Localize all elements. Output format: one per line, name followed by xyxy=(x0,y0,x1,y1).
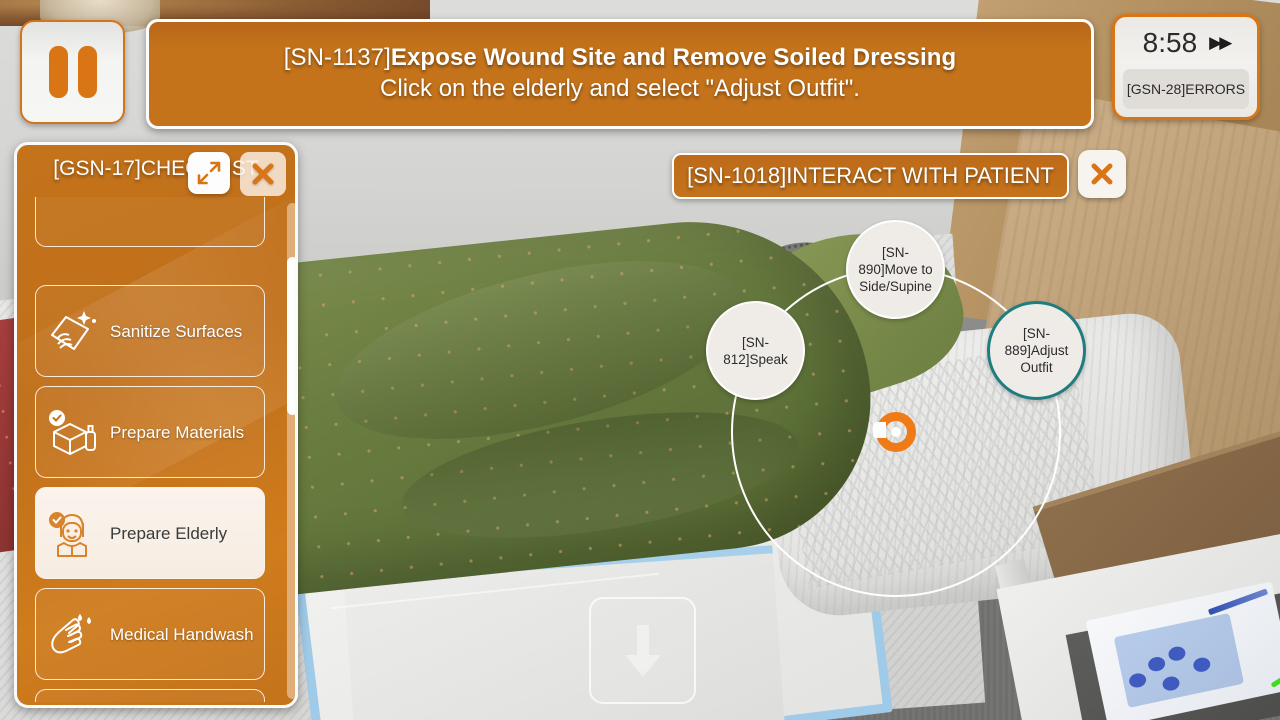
checklist-item-label: Prepare Materials xyxy=(110,420,244,445)
task-banner: [SN-1137]Expose Wound Site and Remove So… xyxy=(146,19,1094,129)
sanitize-surfaces-icon xyxy=(44,305,100,357)
close-icon xyxy=(249,160,277,188)
down-arrow-icon xyxy=(615,619,671,683)
task-code: [SN-1137] xyxy=(284,44,391,71)
radial-option-adjust-outfit[interactable]: [SN-889]Adjust Outfit xyxy=(987,301,1086,400)
pause-bar-left xyxy=(49,46,68,98)
prepare-elderly-icon xyxy=(44,507,100,559)
checklist-item-label: Prepare Elderly xyxy=(110,521,227,546)
timer-value: 8:58 xyxy=(1143,27,1198,59)
radial-cursor-dot xyxy=(891,427,901,437)
radial-option-move-to-side-supine[interactable]: [SN-890]Move to Side/Supine xyxy=(846,220,945,319)
fast-forward-icon[interactable]: ▶▶ xyxy=(1209,33,1229,53)
timer-row: 8:58 ▶▶ xyxy=(1143,23,1230,63)
hud-overlay: [SN-1137]Expose Wound Site and Remove So… xyxy=(0,0,1280,720)
interaction-menu-header: [SN-1018]INTERACT WITH PATIENT xyxy=(672,153,1069,199)
radial-option-speak[interactable]: [SN-812]Speak xyxy=(706,301,805,400)
sidebar-item-medical-handwash[interactable]: Medical Handwash xyxy=(35,588,265,680)
pause-bar-right xyxy=(78,46,97,98)
radial-option-label: [SN-889]Adjust Outfit xyxy=(996,325,1077,376)
interaction-menu-close-button[interactable] xyxy=(1078,150,1126,198)
list-item[interactable] xyxy=(35,197,265,247)
radial-interaction-menu: [SN-812]Speak [SN-890]Move to Side/Supin… xyxy=(731,267,1061,597)
drop-target-slot[interactable] xyxy=(589,597,696,704)
checklist-panel: [GSN-17]CHECKLIST xyxy=(14,142,298,708)
prepare-materials-icon xyxy=(44,406,100,458)
task-title-line: [SN-1137]Expose Wound Site and Remove So… xyxy=(284,43,957,73)
checklist-item-label: Sanitize Surfaces xyxy=(110,319,242,344)
sidebar-item-sterile-field[interactable]: Sterile Field xyxy=(35,689,265,702)
checklist-item-label: Medical Handwash xyxy=(110,622,254,647)
task-title: Expose Wound Site and Remove Soiled Dres… xyxy=(391,44,956,71)
pause-button[interactable] xyxy=(20,20,125,124)
sidebar-item-prepare-elderly[interactable]: Prepare Elderly xyxy=(35,487,265,579)
sidebar-item-sanitize-surfaces[interactable]: Sanitize Surfaces xyxy=(35,285,265,377)
task-instruction: Click on the elderly and select "Adjust … xyxy=(380,73,860,105)
errors-badge: [GSN-28]ERRORS xyxy=(1123,69,1249,109)
partial-item-icon xyxy=(44,197,100,242)
game-screen: [SN-1137]Expose Wound Site and Remove So… xyxy=(0,0,1280,720)
radial-option-label: [SN-812]Speak xyxy=(714,334,797,368)
checklist-scrollbar-thumb[interactable] xyxy=(287,257,298,415)
sidebar-item-prepare-materials[interactable]: Prepare Materials xyxy=(35,386,265,478)
timer-panel: 8:58 ▶▶ [GSN-28]ERRORS xyxy=(1112,14,1260,120)
expand-icon[interactable] xyxy=(188,152,230,194)
close-icon xyxy=(1087,159,1117,189)
medical-handwash-icon xyxy=(44,608,100,660)
checklist-close-button[interactable] xyxy=(240,152,286,196)
radial-cursor-notch xyxy=(873,422,886,438)
checklist-items[interactable]: Sanitize Surfaces Prepar xyxy=(17,197,295,702)
radial-option-label: [SN-890]Move to Side/Supine xyxy=(854,244,937,295)
